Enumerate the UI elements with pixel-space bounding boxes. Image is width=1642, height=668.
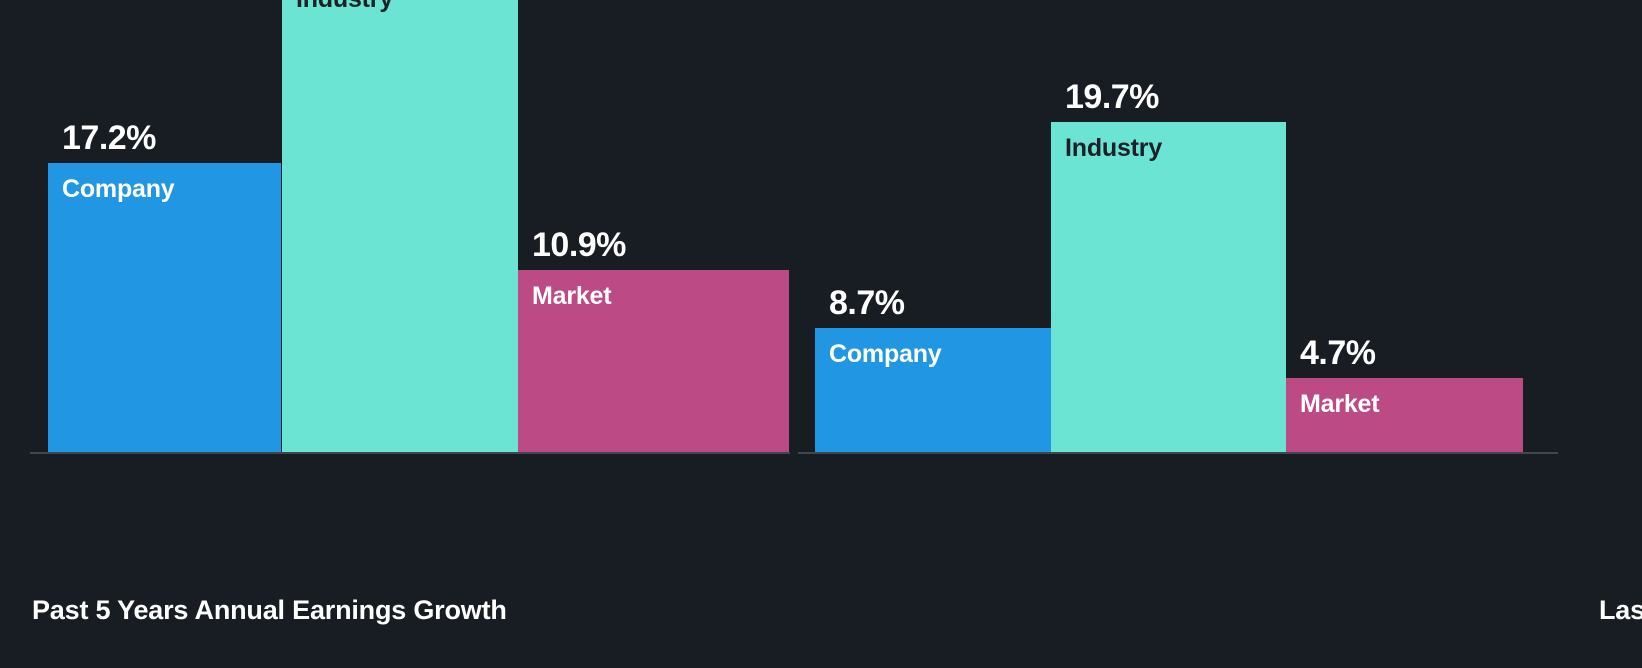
panel-title-past-5-years: Past 5 Years Annual Earnings Growth	[32, 597, 507, 624]
bar-company-label: Company	[829, 342, 942, 367]
plot-area-past-5-years: 17.2% Company 28.7% Industry 10.9% Marke…	[0, 0, 800, 560]
bar-company-fill	[48, 163, 281, 452]
plot-area-last-1-year: 8.7% Company 19.7% Industry 4.7% Market	[800, 0, 1642, 560]
bar-market-label: Market	[1300, 392, 1379, 417]
bar-company-value: 17.2%	[62, 121, 156, 155]
panel-last-1-year: 8.7% Company 19.7% Industry 4.7% Market …	[800, 0, 1642, 668]
bar-company[interactable]: 8.7% Company	[815, 328, 1051, 452]
bar-industry[interactable]: 19.7% Industry	[1051, 122, 1286, 452]
bar-group-last-1-year: 8.7% Company 19.7% Industry 4.7% Market	[815, 0, 1523, 452]
bar-market-value: 4.7%	[1300, 336, 1376, 370]
bar-industry-label: Industry	[1065, 136, 1162, 161]
panel-past-5-years: 17.2% Company 28.7% Industry 10.9% Marke…	[0, 0, 800, 668]
earnings-growth-comparison-chart: 17.2% Company 28.7% Industry 10.9% Marke…	[0, 0, 1642, 668]
bar-industry-fill	[282, 0, 518, 452]
bar-group-past-5-years: 17.2% Company 28.7% Industry 10.9% Marke…	[48, 0, 789, 452]
baseline-axis	[30, 452, 790, 454]
bar-company-label: Company	[62, 177, 175, 202]
bar-market[interactable]: 4.7% Market	[1286, 378, 1523, 452]
baseline-axis	[798, 452, 1558, 454]
bar-market-value: 10.9%	[532, 228, 626, 262]
bar-market-label: Market	[532, 284, 611, 309]
bar-industry-value: 19.7%	[1065, 80, 1159, 114]
bar-industry-label: Industry	[296, 0, 393, 12]
bar-company-value: 8.7%	[829, 286, 905, 320]
bar-industry[interactable]: 28.7% Industry	[282, 0, 518, 452]
bar-company[interactable]: 17.2% Company	[48, 163, 281, 452]
bar-market[interactable]: 10.9% Market	[518, 270, 789, 452]
bar-industry-fill	[1051, 122, 1286, 452]
panel-title-last-1-year: Last 1 Year Earnings Growth	[1599, 597, 1642, 624]
